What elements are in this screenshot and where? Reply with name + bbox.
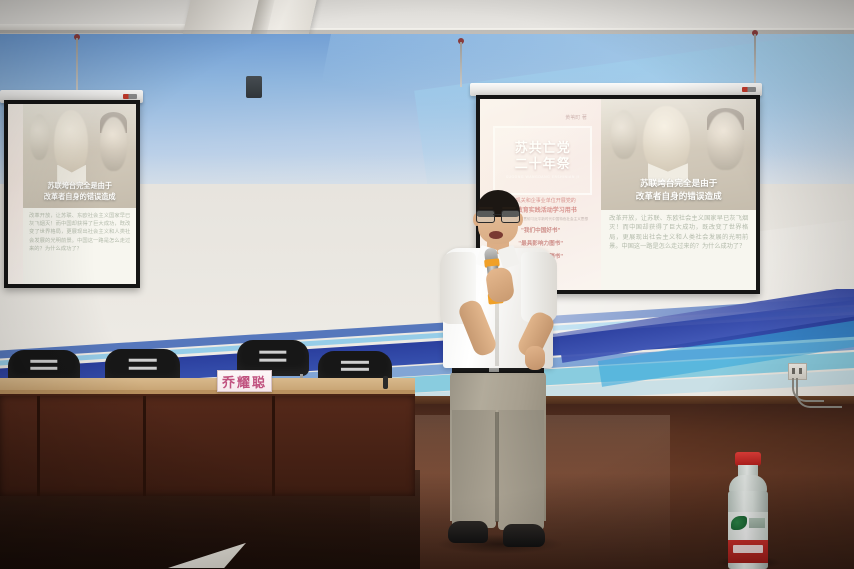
projector-screen-logo: [123, 94, 137, 99]
slide-headline: 苏联垮台完全是由于 改革者自身的错误造成: [28, 181, 132, 202]
power-cable-2: [796, 378, 842, 408]
slide-right-column: 苏联垮台完全是由于 改革者自身的错误造成 改革开放，让苏联、东欧社会主义国家早已…: [601, 99, 756, 290]
book-title-line2: 二十年祭: [515, 157, 571, 173]
slide-photo: 苏联垮台完全是由于 改革者自身的错误造成: [23, 104, 136, 208]
presenter-shoe-right: [503, 524, 545, 547]
name-placard: 乔耀聪: [217, 370, 272, 392]
left-screen-rod-1: [76, 38, 78, 94]
slide-body-text: 改革开放，让苏联、东欧社会主义国家早已灰飞烟灭！而中国却获得了巨大成功，既改变了…: [609, 214, 748, 252]
right-screen-rod-2: [754, 34, 756, 87]
left-slide: 苏联垮台完全是由于 改革者自身的错误造成 改革开放，让苏联、东欧社会主义国家早已…: [8, 104, 136, 284]
placard-name-text: 乔耀聪: [222, 372, 267, 391]
presenter-leg-right: [498, 410, 544, 530]
ceiling-speaker-box: [246, 76, 262, 98]
water-bottle[interactable]: [722, 452, 774, 569]
presenter-hand-right: [525, 346, 545, 370]
left-slide-leftstrip: [8, 104, 23, 284]
slide-headline: 苏联垮台完全是由于 改革者自身的错误造成: [608, 178, 750, 203]
conference-table-front-panel: [0, 396, 415, 496]
slide-body-text: 改革开放，让苏联、东欧社会主义国家早已灰飞烟灭！而中国却获得了巨大成功，既改变了…: [29, 212, 130, 253]
book-cover: 苏共亡党 二十年祭 SUGONG WANGDANG ERSHINIAN JI: [493, 126, 592, 195]
book-title-line1: 苏共亡党: [515, 141, 571, 157]
presenter-mouth: [489, 231, 503, 239]
table-panel-seam-1: [37, 396, 40, 496]
bottle-cap: [735, 452, 761, 466]
book-author: 黄苇町 著: [565, 114, 587, 121]
presenter-leg-left: [452, 410, 496, 528]
table-panel-seam-3: [272, 396, 275, 496]
book-subtitle: SUGONG WANGDANG ERSHINIAN JI: [506, 175, 580, 179]
projector-screen-logo: [742, 87, 756, 92]
left-projection-screen[interactable]: 苏联垮台完全是由于 改革者自身的错误造成 改革开放，让苏联、东欧社会主义国家早已…: [4, 100, 140, 288]
slide-photo: 苏联垮台完全是由于 改革者自身的错误造成: [601, 99, 756, 210]
eyeglasses: [475, 210, 521, 221]
right-screen-rod-1: [460, 42, 462, 87]
lecture-hall-photo: 苏联垮台完全是由于 改革者自身的错误造成 改革开放，让苏联、东欧社会主义国家早已…: [0, 0, 854, 569]
left-slide-main: 苏联垮台完全是由于 改革者自身的错误造成 改革开放，让苏联、东欧社会主义国家早已…: [23, 104, 136, 284]
table-panel-seam-2: [143, 396, 146, 496]
presenter-shoe-left: [448, 521, 488, 543]
desk-microphone[interactable]: [383, 376, 388, 389]
